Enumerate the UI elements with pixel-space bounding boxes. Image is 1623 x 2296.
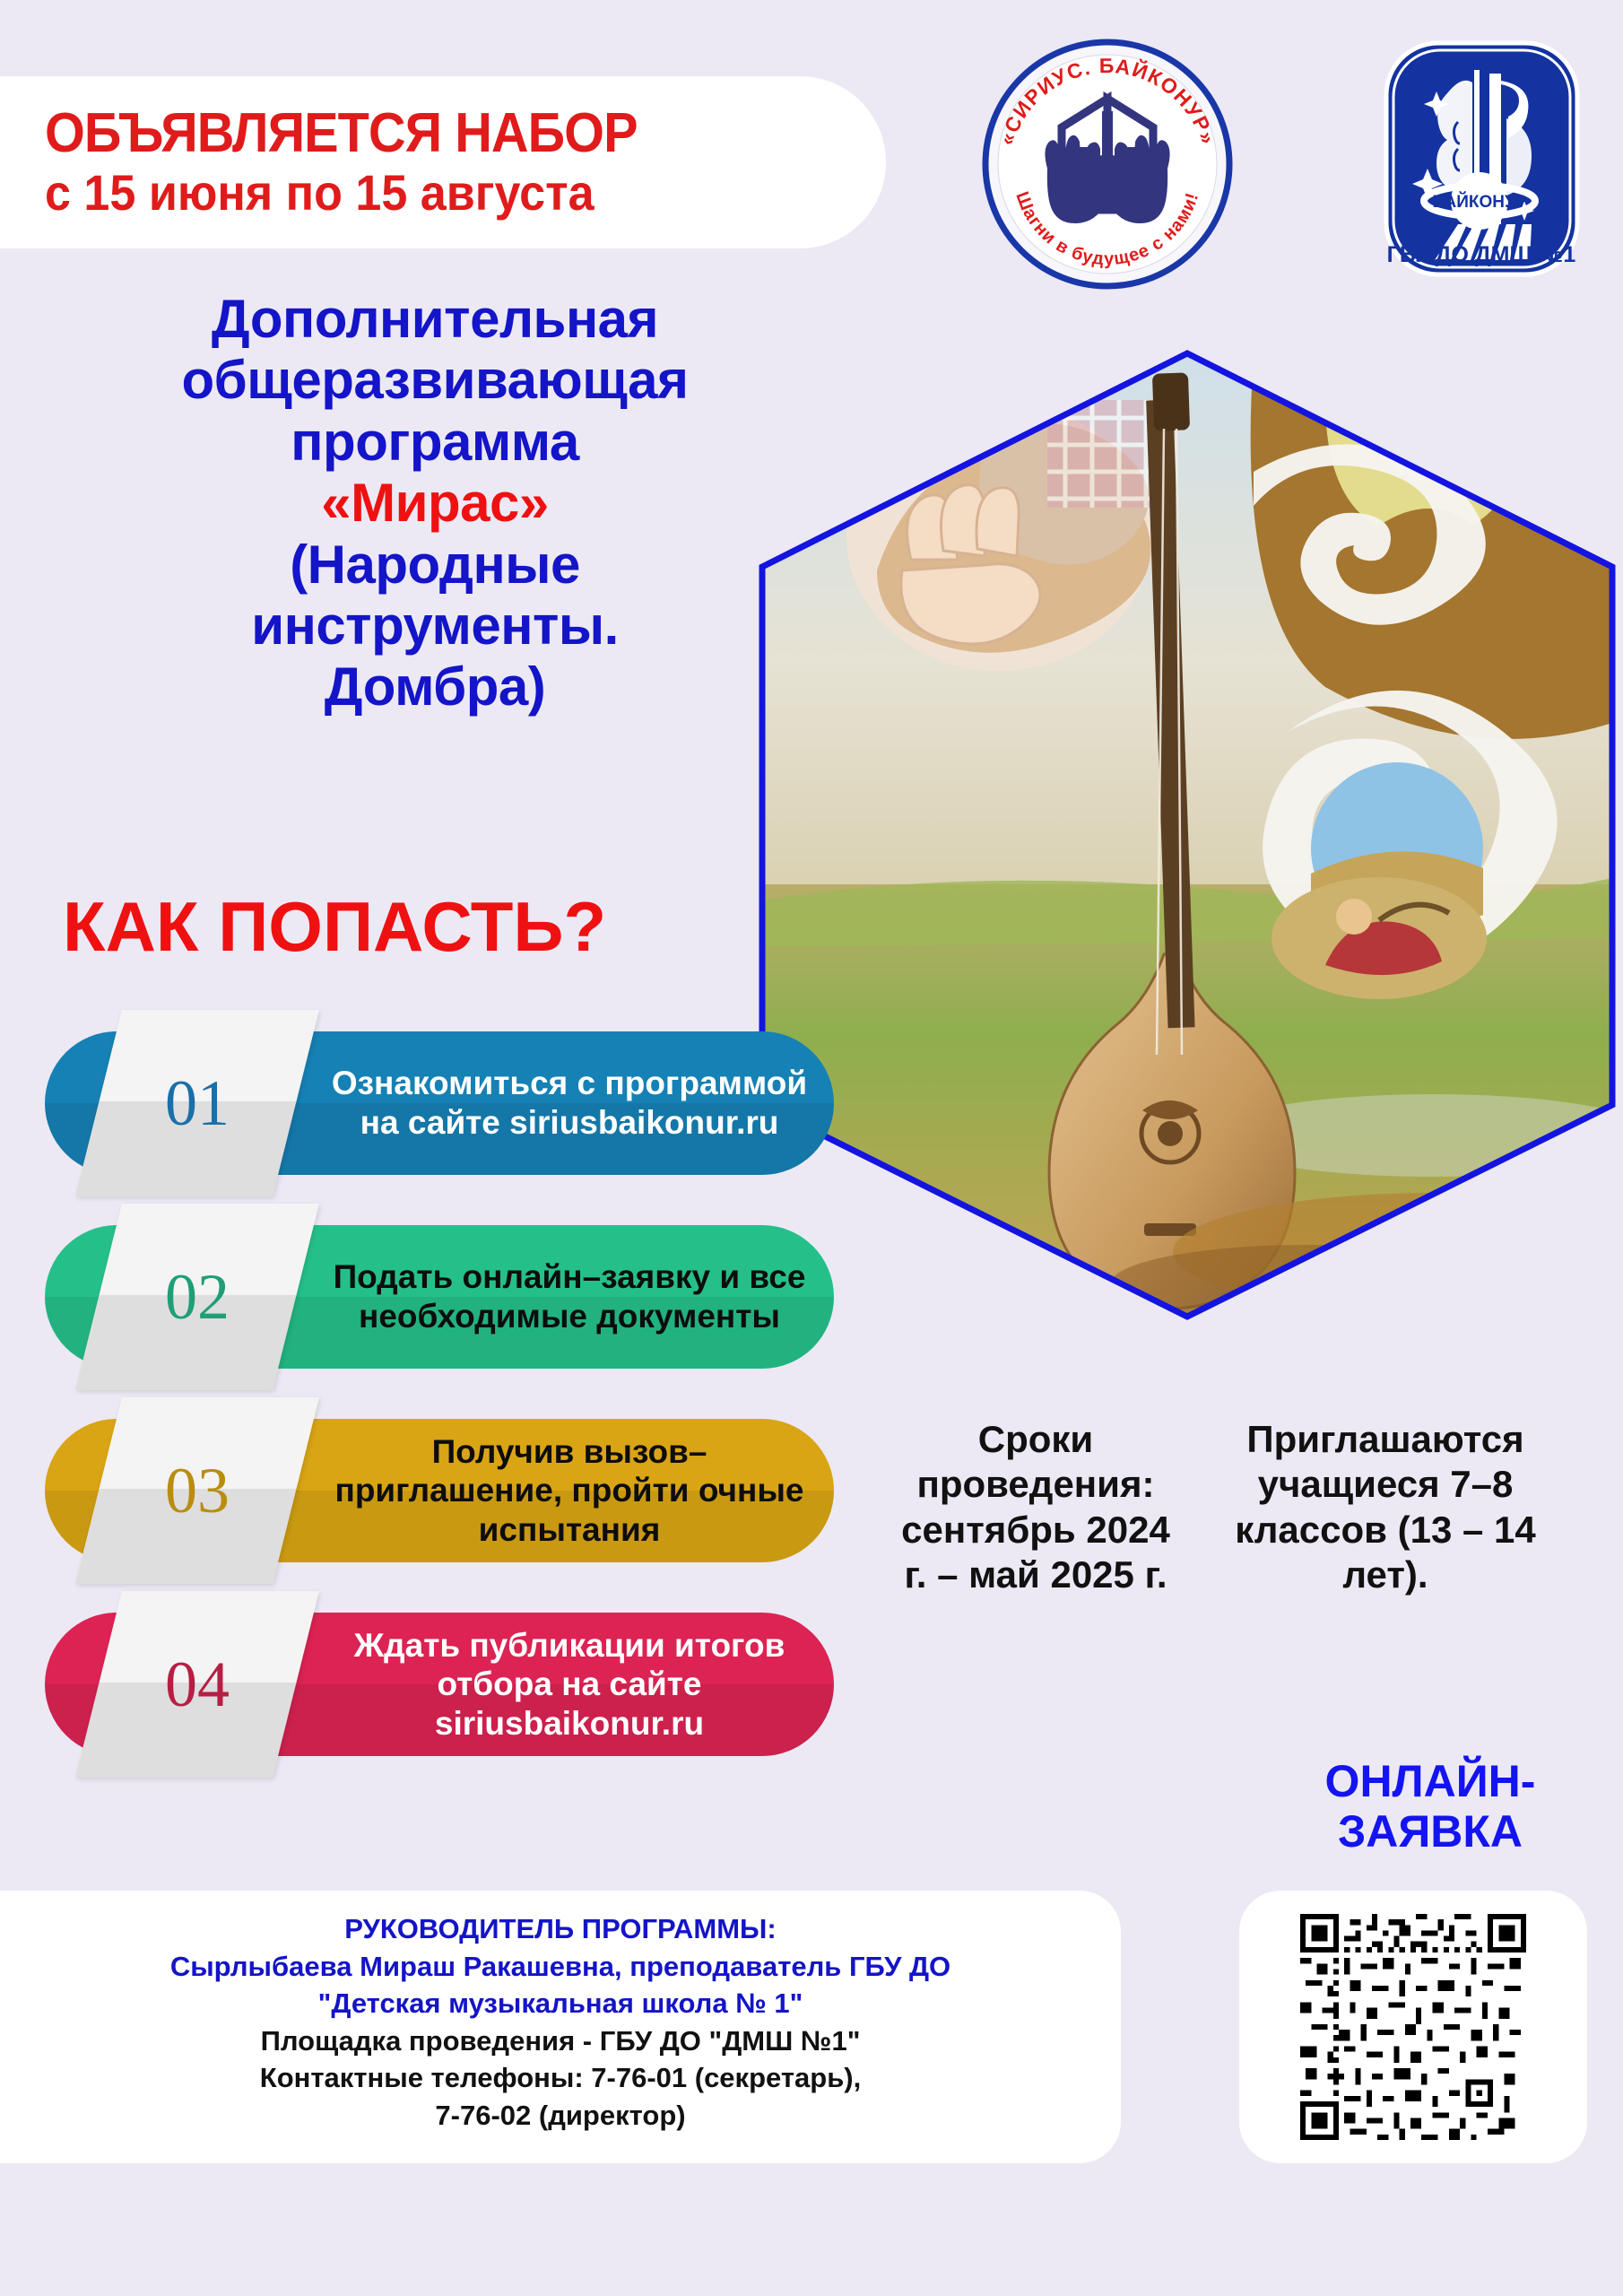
qr-code-card[interactable] [1239,1891,1587,2163]
footer-venue: Площадка проведения - ГБУ ДО "ДМШ №1" [36,2022,1085,2060]
poster-root: ОБЪЯВЛЯЕТСЯ НАБОР с 15 июня по 15 август… [0,0,1623,2296]
footer-phone-director: 7-76-02 (директор) [36,2097,1085,2135]
sirius-baikonur-logo: «СИРИУС. БАЙКОНУР» Шагни в будущее с нам… [977,34,1237,294]
dmsh-no1-logo: БАЙКОНУР ГБУ ДО ДМШ №1 [1381,38,1583,280]
recruitment-banner: ОБЪЯВЛЯЕТСЯ НАБОР с 15 июня по 15 август… [0,76,886,248]
online-application-label: ОНЛАЙН-ЗАЯВКА [1255,1756,1605,1857]
step-text-03: Получив вызов–приглашение, пройти очные … [314,1419,825,1562]
step-card-04[interactable]: 04 Ждать публикации итогов отбора на сай… [45,1604,834,1765]
footer-heading: РУКОВОДИТЕЛЬ ПРОГРАММЫ: [36,1910,1085,1948]
title-line-2: общеразвивающая [54,350,816,411]
step-number-01: 01 [99,1010,296,1196]
step-number-04: 04 [99,1591,296,1778]
banner-headline: ОБЪЯВЛЯЕТСЯ НАБОР [45,105,827,161]
contact-info-card: РУКОВОДИТЕЛЬ ПРОГРАММЫ: Сырлыбаева Мираш… [0,1891,1121,2163]
footer-school-name: "Детская музыкальная школа № 1" [36,1985,1085,2022]
title-line-6: инструменты. [54,596,816,657]
program-dates: Сроки проведения: сентябрь 2024 г. – май… [897,1417,1175,1598]
dombra-hexagon-photo [751,346,1623,1324]
steps-list: 01 Ознакомиться с программой на сайте si… [45,1022,834,1797]
logo-dmsh-caption: ГБУ ДО ДМШ №1 [1387,242,1576,267]
program-title: Дополнительная общеразвивающая программа… [54,289,816,718]
step-text-04: Ждать публикации итогов отбора на сайте … [314,1613,825,1756]
title-line-1: Дополнительная [54,289,816,350]
footer-phone-secretary: Контактные телефоны: 7-76-01 (секретарь)… [36,2059,1085,2097]
step-number-02: 02 [99,1204,296,1390]
title-line-3: программа [54,412,816,473]
title-program-name: «Мирас» [54,473,816,534]
step-number-03: 03 [99,1397,296,1584]
banner-dates: с 15 июня по 15 августа [45,165,827,221]
step-text-01: Ознакомиться с программой на сайте siriu… [314,1031,825,1175]
qr-code-online-application[interactable] [1300,1914,1526,2140]
step-card-01[interactable]: 01 Ознакомиться с программой на сайте si… [45,1022,834,1184]
target-audience: Приглашаются учащиеся 7–8 классов (13 – … [1193,1417,1578,1598]
step-card-03[interactable]: 03 Получив вызов–приглашение, пройти очн… [45,1410,834,1571]
step-text-02: Подать онлайн–заявку и все необходимые д… [314,1225,825,1369]
step-card-02[interactable]: 02 Подать онлайн–заявку и все необходимы… [45,1216,834,1378]
title-line-7: Домбра) [54,657,816,717]
title-line-5: (Народные [54,535,816,596]
footer-leader-name: Сырлыбаева Мираш Ракашевна, преподавател… [36,1948,1085,1986]
logo-dmsh-planet-text: БАЙКОНУР [1433,192,1527,212]
how-to-heading: КАК ПОПАСТЬ? [54,886,771,968]
